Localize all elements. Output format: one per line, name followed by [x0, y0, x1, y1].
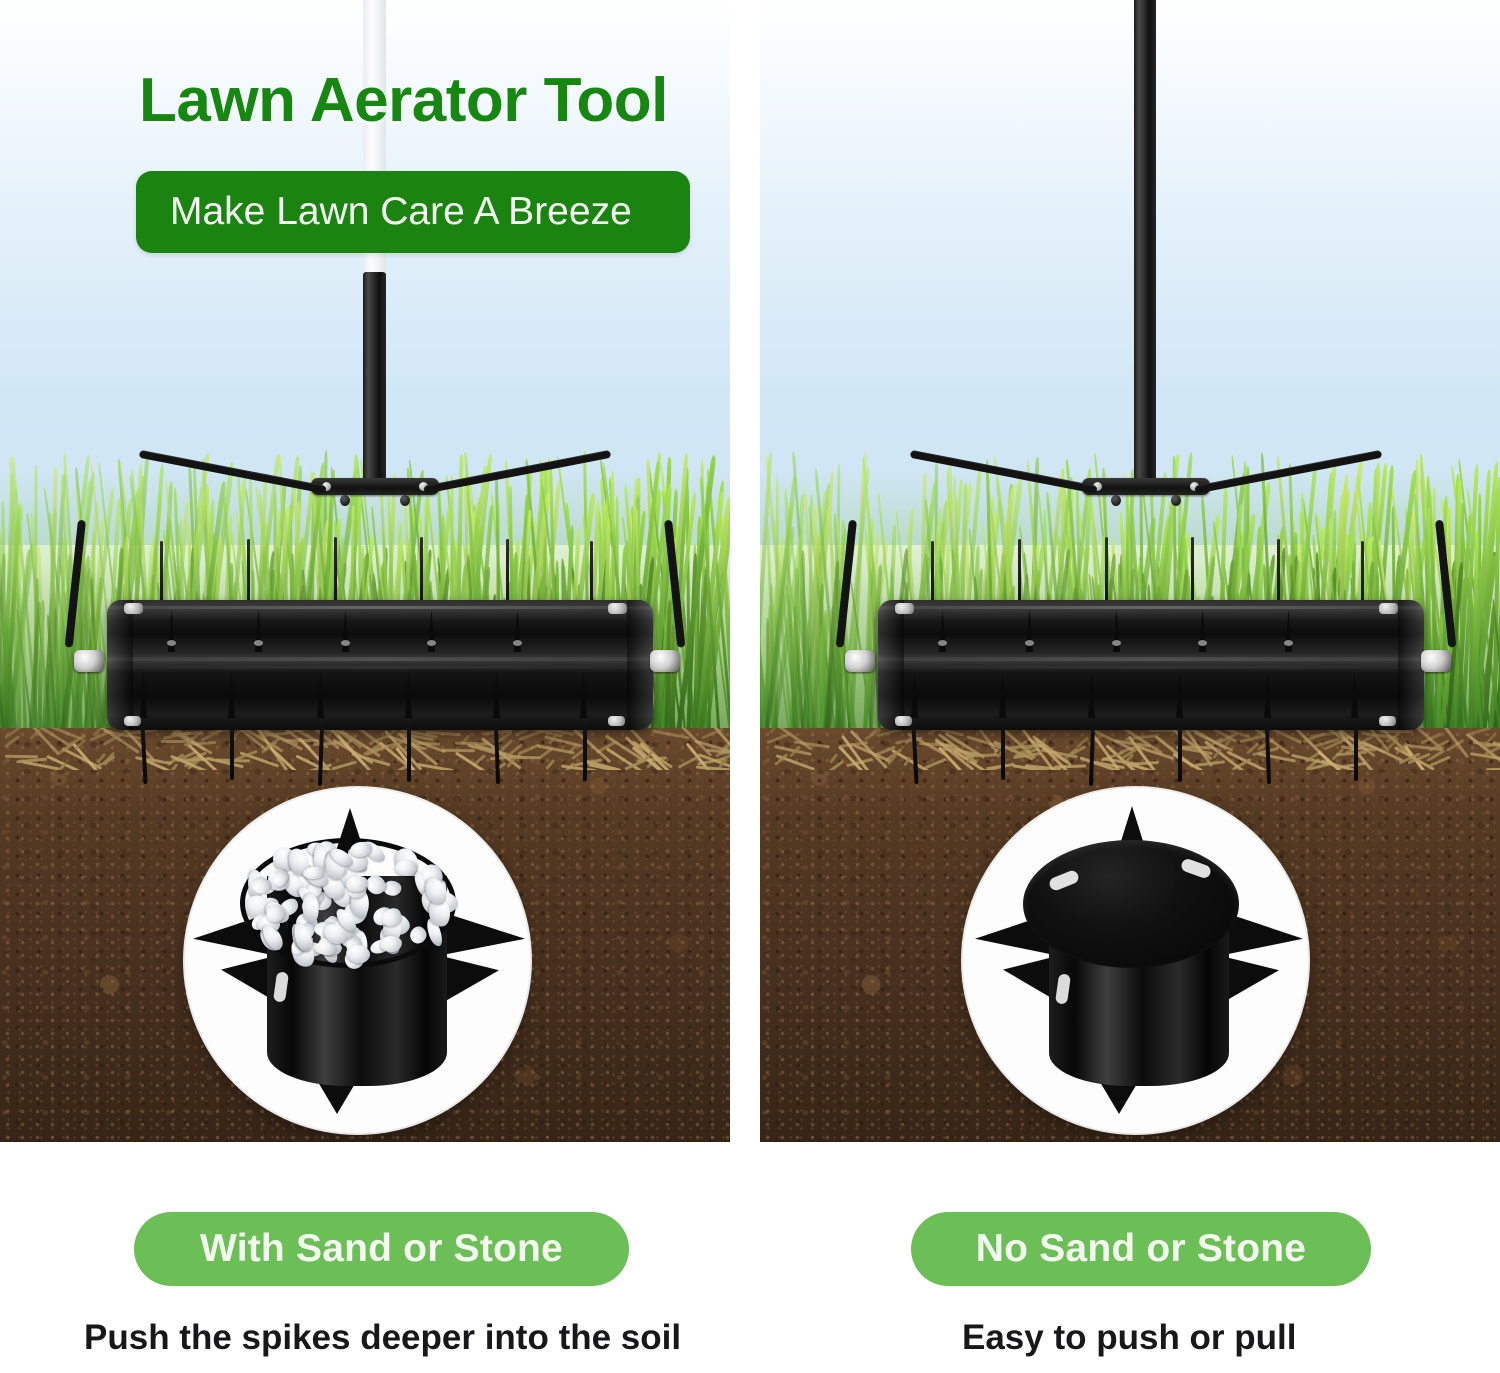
aerator-drum — [107, 600, 653, 730]
frame-arm-left-side — [65, 520, 86, 648]
drum-rivet — [608, 603, 627, 614]
soil-spike — [494, 724, 500, 784]
label-pill-with-sand-or-stone: With Sand or Stone — [134, 1212, 629, 1286]
soil-spike — [1001, 724, 1005, 780]
soil-spike — [230, 724, 234, 780]
page-title: Lawn Aerator Tool — [139, 70, 668, 132]
drum-ridge — [107, 657, 653, 661]
aerator-drum — [878, 600, 1424, 730]
stone-fill — [245, 842, 451, 964]
fin-weld-glint — [938, 640, 947, 646]
fin-weld-glint — [513, 640, 522, 646]
fin-weld-glint — [167, 640, 176, 646]
tagline-badge: Make Lawn Care A Breeze — [136, 171, 690, 253]
fin-weld-glint — [1112, 640, 1121, 646]
drum-rivet — [895, 716, 912, 726]
caption-with-sand-or-stone: Push the spikes deeper into the soil — [84, 1318, 681, 1358]
soil-spike — [407, 724, 411, 782]
handle-pole-lower — [363, 272, 386, 484]
soil-spike — [1178, 724, 1182, 782]
drum-end-cap — [107, 600, 133, 730]
pill-label: No Sand or Stone — [976, 1227, 1306, 1271]
handle-pole — [1134, 0, 1156, 484]
drum-rivet — [124, 603, 143, 614]
panel-no-sand-or-stone — [760, 0, 1500, 1142]
fin-weld-glint — [427, 640, 436, 646]
axle-bolt-right — [1421, 650, 1451, 672]
axle-bolt-left — [74, 650, 104, 672]
drum-ridge — [878, 657, 1424, 661]
soil-spike — [1089, 724, 1095, 786]
product-infographic: Lawn Aerator Tool Make Lawn Care A Breez… — [0, 0, 1500, 1373]
frame-clamp-bolt — [340, 495, 350, 506]
drum-ridge — [878, 606, 1424, 609]
frame-arm-left-side — [836, 520, 857, 648]
frame-arm-right-side — [664, 520, 685, 648]
fin-weld-glint — [1284, 640, 1293, 646]
drum-ridge — [878, 666, 1424, 669]
inset-detail-empty-drum — [963, 788, 1308, 1133]
frame-clamp-bolt — [1111, 495, 1121, 506]
caption-no-sand-or-stone: Easy to push or pull — [962, 1318, 1296, 1358]
drum-rivet — [608, 716, 625, 726]
drum-end-cap — [878, 600, 904, 730]
fin-weld-glint — [1198, 640, 1207, 646]
fin-weld-glint — [341, 640, 350, 646]
fin-weld-glint — [254, 640, 263, 646]
fin-weld-glint — [1025, 640, 1034, 646]
inset-drum-top-face — [1023, 840, 1239, 968]
soil-spike — [318, 724, 324, 786]
frame-clamp-bolt — [400, 495, 410, 506]
drum-ridge — [107, 606, 653, 609]
pill-label: With Sand or Stone — [200, 1227, 563, 1271]
frame-arm-left-top — [910, 450, 1098, 494]
frame-arm-left-top — [139, 450, 327, 494]
axle-bolt-right — [650, 650, 680, 672]
drum-rivet — [895, 603, 914, 614]
frame-clamp-bolt — [1171, 495, 1181, 506]
soil-spike — [1354, 724, 1358, 781]
drum-rivet — [124, 716, 141, 726]
tagline-text: Make Lawn Care A Breeze — [136, 190, 632, 234]
soil-spike — [911, 724, 918, 784]
frame-arm-right-side — [1435, 520, 1456, 648]
drum-rivet — [1379, 716, 1396, 726]
drum-rivet — [1379, 603, 1398, 614]
soil-spike — [583, 724, 587, 781]
frame-arm-right-top — [423, 450, 611, 494]
inset-detail-with-stones — [185, 788, 530, 1133]
soil-spike — [1265, 724, 1271, 784]
frame-arm-right-top — [1194, 450, 1382, 494]
axle-bolt-left — [845, 650, 875, 672]
drum-ridge — [107, 666, 653, 669]
label-pill-no-sand-or-stone: No Sand or Stone — [911, 1212, 1371, 1286]
soil-spike — [140, 724, 147, 784]
